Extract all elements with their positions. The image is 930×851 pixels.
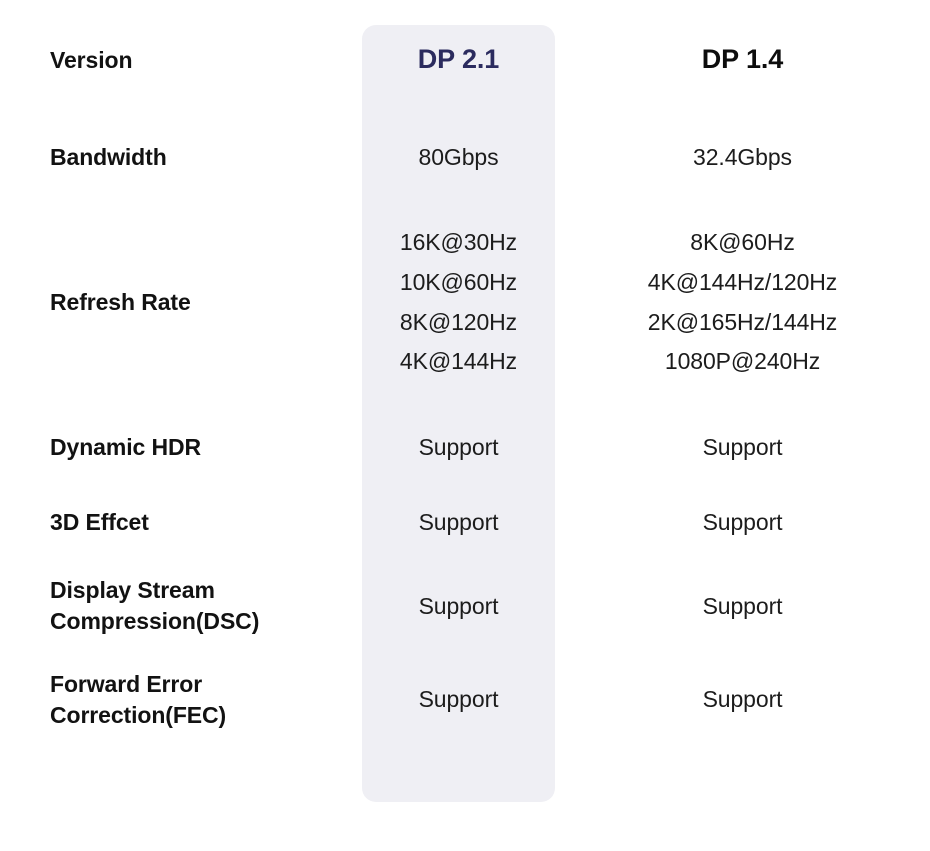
table-row-forward-error-correction: Forward Error Correction(FEC) Support Su… (0, 652, 930, 747)
cell-dsc-dp21: Support (362, 589, 555, 624)
cell-bandwidth-dp21: 80Gbps (362, 140, 555, 175)
table-row-refresh-rate: Refresh Rate 16K@30Hz 10K@60Hz 8K@120Hz … (0, 195, 930, 410)
row-label-display-stream-compression: Display Stream Compression(DSC) (0, 575, 362, 636)
table-row-dynamic-hdr: Dynamic HDR Support Support (0, 410, 930, 485)
table-row-display-stream-compression: Display Stream Compression(DSC) Support … (0, 560, 930, 652)
cell-refresh-rate-dp21: 16K@30Hz 10K@60Hz 8K@120Hz 4K@144Hz (362, 223, 555, 381)
cell-3d-effect-dp14: Support (555, 505, 930, 540)
value-text: 8K@120Hz (362, 303, 555, 343)
value-text: Support (555, 682, 930, 717)
cell-version-dp14: DP 1.4 (555, 39, 930, 80)
row-label-line: Forward Error (50, 669, 350, 700)
cell-bandwidth-dp14: 32.4Gbps (555, 140, 930, 175)
value-text: 1080P@240Hz (555, 342, 930, 382)
value-text: Support (555, 505, 930, 540)
row-label-line: Compression(DSC) (50, 606, 350, 637)
value-text: Support (362, 505, 555, 540)
cell-3d-effect-dp21: Support (362, 505, 555, 540)
value-text: 80Gbps (362, 140, 555, 175)
value-text: 10K@60Hz (362, 263, 555, 303)
cell-fec-dp21: Support (362, 682, 555, 717)
row-label-line: Correction(FEC) (50, 700, 350, 731)
value-text: Support (362, 430, 555, 465)
table-row-version: Version DP 2.1 DP 1.4 (0, 0, 930, 120)
dp-comparison-table: Version DP 2.1 DP 1.4 Bandwidth 80Gbps 3… (0, 0, 930, 851)
cell-dynamic-hdr-dp14: Support (555, 430, 930, 465)
cell-refresh-rate-dp14: 8K@60Hz 4K@144Hz/120Hz 2K@165Hz/144Hz 10… (555, 223, 930, 381)
cell-fec-dp14: Support (555, 682, 930, 717)
value-text: Support (362, 589, 555, 624)
row-label-version: Version (0, 45, 362, 76)
table-row-bandwidth: Bandwidth 80Gbps 32.4Gbps (0, 120, 930, 195)
row-label-dynamic-hdr: Dynamic HDR (0, 432, 362, 463)
value-text: 4K@144Hz (362, 342, 555, 382)
value-text: 2K@165Hz/144Hz (555, 303, 930, 343)
value-text: 16K@30Hz (362, 223, 555, 263)
value-text: DP 1.4 (555, 39, 930, 80)
cell-dsc-dp14: Support (555, 589, 930, 624)
table-row-3d-effect: 3D Effcet Support Support (0, 485, 930, 560)
value-text: Support (362, 682, 555, 717)
cell-version-dp21: DP 2.1 (362, 39, 555, 80)
row-label-line: Display Stream (50, 575, 350, 606)
value-text: Support (555, 589, 930, 624)
comparison-table-grid: Version DP 2.1 DP 1.4 Bandwidth 80Gbps 3… (0, 0, 930, 851)
value-text: Support (555, 430, 930, 465)
value-text: 8K@60Hz (555, 223, 930, 263)
value-text: 4K@144Hz/120Hz (555, 263, 930, 303)
value-text: DP 2.1 (362, 39, 555, 80)
row-label-bandwidth: Bandwidth (0, 142, 362, 173)
value-text: 32.4Gbps (555, 140, 930, 175)
row-label-3d-effect: 3D Effcet (0, 507, 362, 538)
cell-dynamic-hdr-dp21: Support (362, 430, 555, 465)
row-label-refresh-rate: Refresh Rate (0, 287, 362, 318)
row-label-forward-error-correction: Forward Error Correction(FEC) (0, 669, 362, 730)
